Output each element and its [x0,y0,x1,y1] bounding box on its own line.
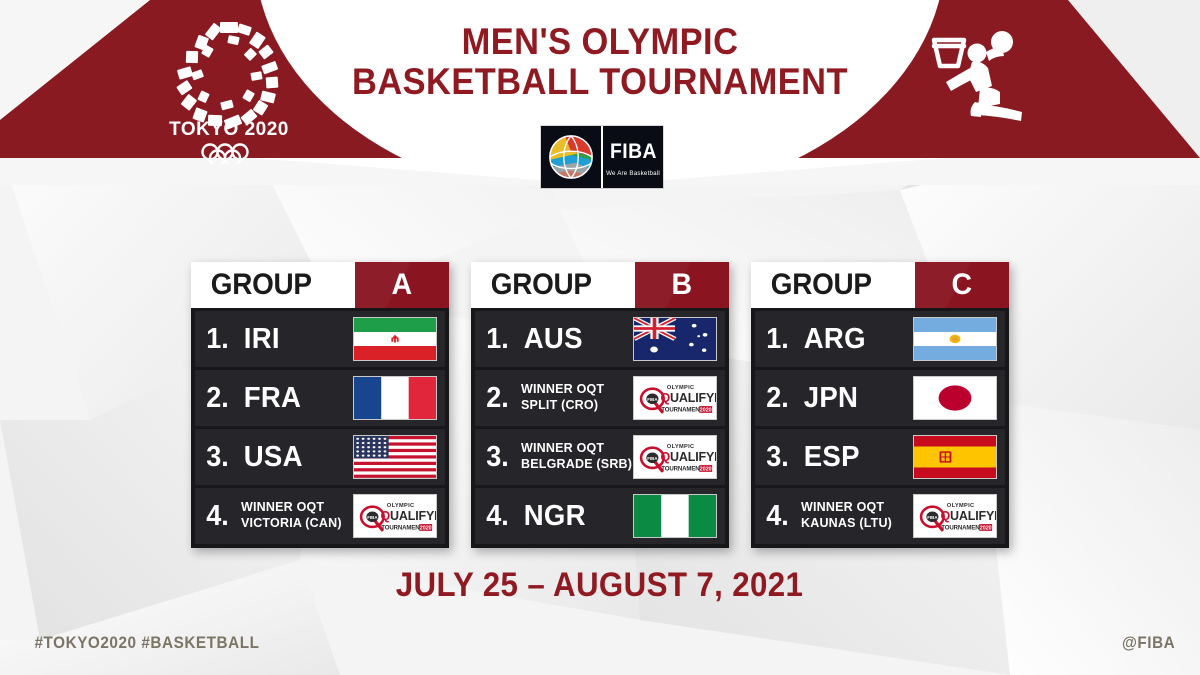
group-table-c: GROUPC1.ARG 2.JPN 3.ESP 4.WINNER OQTKAUN… [751,262,1009,548]
team-rank: 2. [206,382,238,415]
basketball-pictogram [920,18,1038,123]
team-rank: 3. [486,441,518,474]
team-rank: 1. [486,323,518,356]
team-rank: 4. [206,500,238,533]
svg-text:2020: 2020 [700,466,712,472]
fiba-wordmark: FIBA We Are Basketball [601,126,663,188]
svg-text:FIBA: FIBA [367,515,378,520]
svg-text:FIBA: FIBA [647,397,658,402]
team-row[interactable]: 2.JPN [755,370,1005,426]
group-table-a: GROUPA1.IRI 2.FRA 3.USA 4.WINNER OQTVICT… [191,262,449,548]
groups-container: GROUPA1.IRI 2.FRA 3.USA 4.WINNER OQTVICT… [0,262,1200,548]
svg-text:OLYMPIC: OLYMPIC [667,385,694,391]
iran-flag-icon [353,317,437,361]
hashtags-text: #TOKYO2020 #BASKETBALL [35,633,260,653]
svg-text:OLYMPIC: OLYMPIC [387,503,414,509]
group-body-a: 1.IRI 2.FRA 3.USA 4.WINNER OQTVICTORIA (… [191,308,449,548]
team-rank: 3. [206,441,238,474]
fiba-tagline: We Are Basketball [606,170,660,177]
team-rank: 2. [766,382,798,415]
group-label-text: GROUP [211,268,312,302]
team-name: IRI [242,323,350,356]
usa-flag-icon [353,435,437,479]
oqt-logo-icon: FIBA OLYMPIC QUALIFYING TOURNAMENTS 2020 [353,494,437,538]
group-letter-badge-b: B [635,262,729,308]
team-rank: 4. [766,500,798,533]
team-rank: 4. [486,500,518,533]
spain-flag-icon [913,435,997,479]
dates-text: JULY 25 – AUGUST 7, 2021 [396,566,804,605]
svg-text:FIBA: FIBA [927,515,938,520]
team-name: JPN [802,382,910,415]
team-name: AUS [522,323,630,356]
fiba-basketball-globe-icon [541,126,601,188]
japan-flag-icon [913,376,997,420]
svg-text:FIBA: FIBA [647,456,658,461]
team-row[interactable]: 4.WINNER OQTVICTORIA (CAN) FIBA OLYMPIC … [195,488,445,544]
argentina-flag-icon [913,317,997,361]
team-name: ESP [802,441,910,474]
group-letter-text: A [392,268,413,302]
group-letter-text: C [952,268,973,302]
team-row[interactable]: 4.NGR [475,488,725,544]
australia-flag-icon [633,317,717,361]
group-label-a: GROUP [191,262,355,308]
svg-text:OLYMPIC: OLYMPIC [667,444,694,450]
group-header-c: GROUPC [751,262,1009,308]
svg-text:QUALIFYING: QUALIFYING [660,450,716,464]
nigeria-flag-icon [633,494,717,538]
group-label-text: GROUP [491,268,592,302]
group-letter-badge-c: C [915,262,1009,308]
svg-text:TOKYO 2020: TOKYO 2020 [169,119,289,140]
tournament-dates: JULY 25 – AUGUST 7, 2021 [0,566,1200,605]
group-header-b: GROUPB [471,262,729,308]
team-rank: 1. [206,323,238,356]
svg-text:QUALIFYING: QUALIFYING [380,509,436,523]
group-table-b: GROUPB1.AUS 2.WINNER OQTSPLIT (CRO) FIBA… [471,262,729,548]
team-rank: 1. [766,323,798,356]
team-row[interactable]: 1.ARG [755,311,1005,367]
fiba-word: FIBA [610,141,657,162]
team-name: WINNER OQTKAUNAS (LTU) [799,500,913,531]
team-name: WINNER OQTSPLIT (CRO) [519,382,633,413]
team-rank: 2. [486,382,518,415]
team-row[interactable]: 3.WINNER OQTBELGRADE (SRB) FIBA OLYMPIC … [475,429,725,485]
handle-text: @FIBA [1122,633,1175,653]
svg-text:OLYMPIC: OLYMPIC [947,503,974,509]
team-name: WINNER OQTBELGRADE (SRB) [519,441,633,472]
fiba-logo: FIBA We Are Basketball [541,126,663,188]
group-label-c: GROUP [751,262,915,308]
france-flag-icon [353,376,437,420]
team-row[interactable]: 1.IRI [195,311,445,367]
team-row[interactable]: 4.WINNER OQTKAUNAS (LTU) FIBA OLYMPIC QU… [755,488,1005,544]
team-name: FRA [242,382,350,415]
tokyo-2020-emblem: TOKYO 2020 [168,14,290,164]
team-name: NGR [522,500,630,533]
svg-text:QUALIFYING: QUALIFYING [940,509,996,523]
svg-text:2020: 2020 [420,525,432,531]
oqt-logo-icon: FIBA OLYMPIC QUALIFYING TOURNAMENTS 2020 [633,435,717,479]
team-name: ARG [802,323,910,356]
footer-hashtags: #TOKYO2020 #BASKETBALL [22,633,272,653]
group-header-a: GROUPA [191,262,449,308]
team-name: USA [242,441,350,474]
group-label-b: GROUP [471,262,635,308]
team-row[interactable]: 2.FRA [195,370,445,426]
svg-text:QUALIFYING: QUALIFYING [660,391,716,405]
team-row[interactable]: 3.USA [195,429,445,485]
group-body-c: 1.ARG 2.JPN 3.ESP 4.WINNER OQTKAUNAS (LT… [751,308,1009,548]
team-row[interactable]: 1.AUS [475,311,725,367]
team-name: WINNER OQTVICTORIA (CAN) [239,500,353,531]
group-letter-text: B [672,268,693,302]
svg-text:2020: 2020 [700,407,712,413]
oqt-logo-icon: FIBA OLYMPIC QUALIFYING TOURNAMENTS 2020 [633,376,717,420]
team-row[interactable]: 3.ESP [755,429,1005,485]
oqt-logo-icon: FIBA OLYMPIC QUALIFYING TOURNAMENTS 2020 [913,494,997,538]
group-body-b: 1.AUS 2.WINNER OQTSPLIT (CRO) FIBA OLYMP… [471,308,729,548]
team-rank: 3. [766,441,798,474]
svg-text:2020: 2020 [980,525,992,531]
group-letter-badge-a: A [355,262,449,308]
group-label-text: GROUP [771,268,872,302]
team-row[interactable]: 2.WINNER OQTSPLIT (CRO) FIBA OLYMPIC QUA… [475,370,725,426]
footer-handle: @FIBA [1119,633,1178,653]
